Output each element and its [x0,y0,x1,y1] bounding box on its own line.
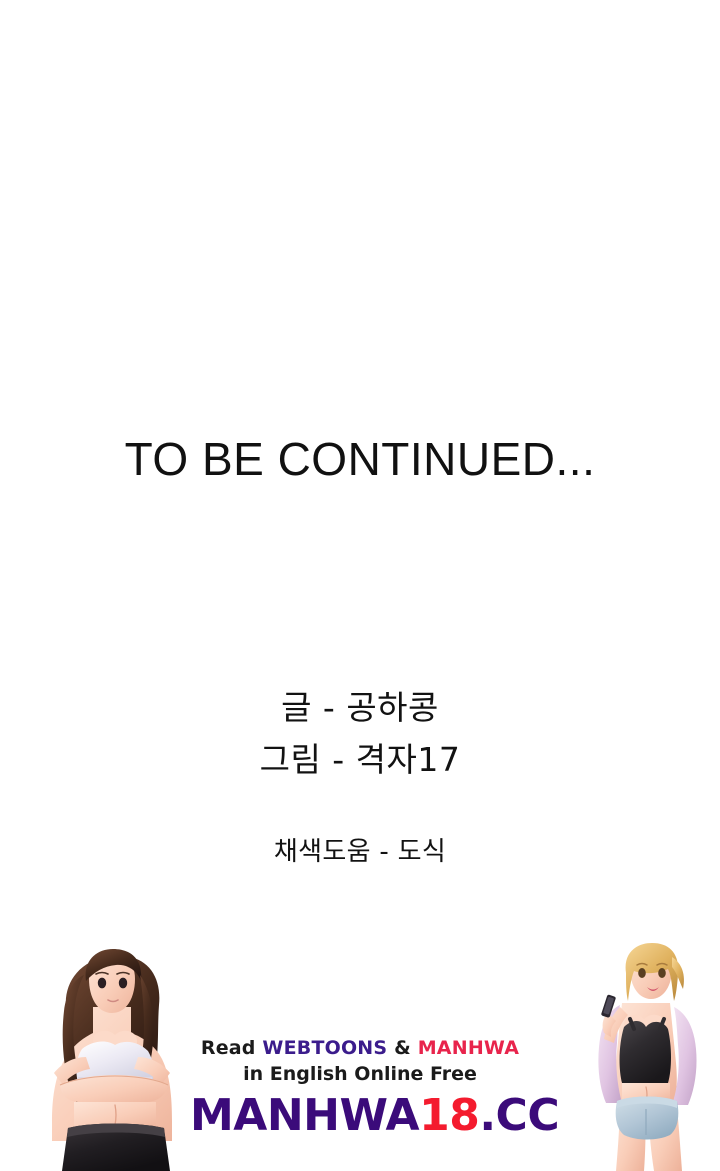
credits-secondary-block: 채색도움 - 도식 [0,833,720,871]
right-character-illustration [584,943,708,1171]
footer-ampersand: & [387,1037,417,1059]
credit-color-assist: 채색도움 - 도식 [0,833,720,871]
footer-promo-line2: in English Online Free [190,1061,530,1088]
to-be-continued-text: TO BE CONTINUED... [0,432,720,486]
site-logo[interactable]: MANHWA18.CC [190,1090,530,1142]
logo-18-text: 18 [419,1090,479,1141]
footer-manhwa-label: MANHWA [418,1037,519,1059]
footer-promo-text: Read WEBTOONS & MANHWA in English Online… [190,1035,530,1088]
site-promo-footer: Read WEBTOONS & MANHWA in English Online… [0,940,720,1171]
credit-writer: 글 - 공하콩 [0,682,720,734]
logo-cc-text: .CC [479,1090,559,1141]
credit-artist: 그림 - 격자17 [0,734,720,786]
left-character-illustration [30,945,192,1171]
footer-webtoons-label: WEBTOONS [262,1037,387,1059]
webtoon-end-page: TO BE CONTINUED... 글 - 공하콩 그림 - 격자17 채색도… [0,0,720,1171]
footer-read-label: Read [201,1037,263,1059]
footer-promo-line1: Read WEBTOONS & MANHWA [190,1035,530,1061]
credits-block: 글 - 공하콩 그림 - 격자17 [0,682,720,786]
logo-manhwa-text: MANHWA [190,1090,419,1141]
